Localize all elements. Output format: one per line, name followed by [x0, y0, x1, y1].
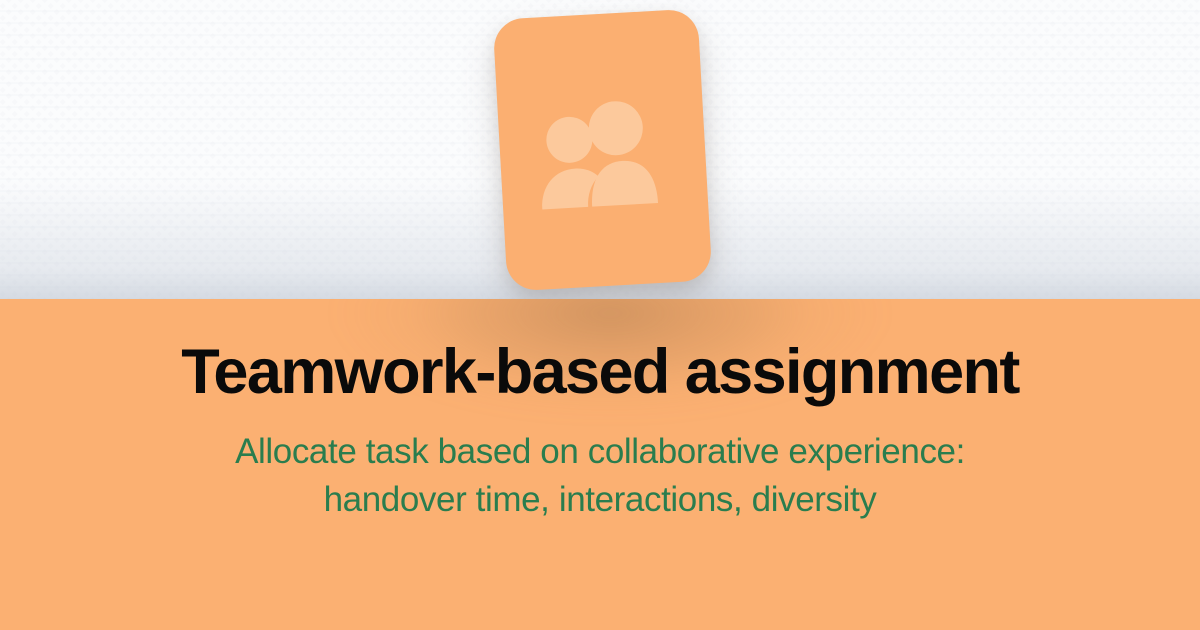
- people-group-icon: [497, 94, 708, 215]
- og-card-root: Teamwork-based assignment Allocate task …: [0, 0, 1200, 630]
- page-title: Teamwork-based assignment: [24, 339, 1176, 406]
- icon-card: [493, 8, 713, 291]
- subtitle-line-2: handover time, interactions, diversity: [24, 476, 1176, 524]
- subtitle-line-1: Allocate task based on collaborative exp…: [24, 428, 1176, 476]
- page-subtitle: Allocate task based on collaborative exp…: [24, 428, 1176, 525]
- caption-band: Teamwork-based assignment Allocate task …: [0, 299, 1200, 630]
- caption-content: Teamwork-based assignment Allocate task …: [0, 299, 1200, 524]
